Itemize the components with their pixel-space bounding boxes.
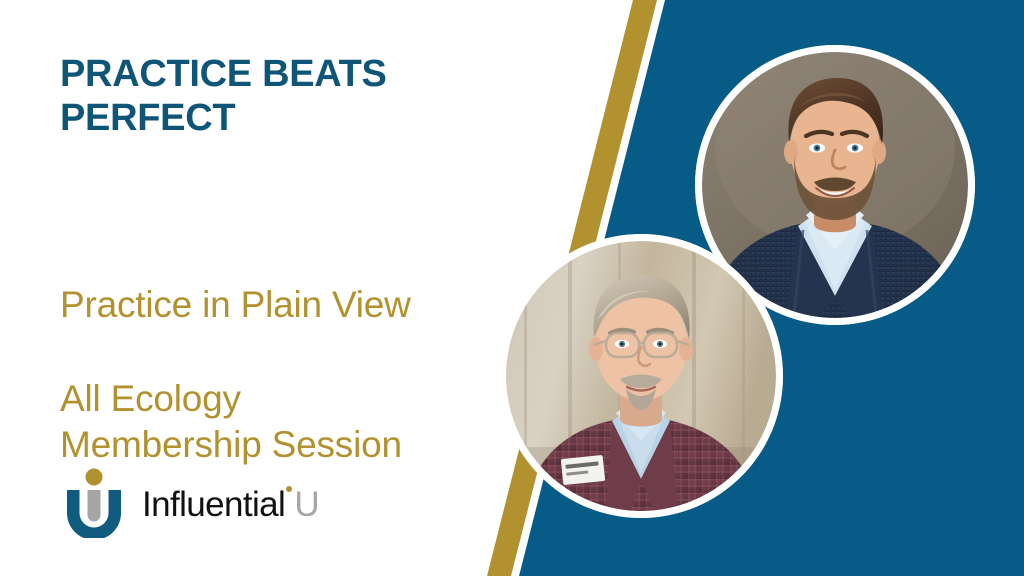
portrait-bottom-photo [506,241,776,511]
session-title-line-1: All Ecology [60,376,490,422]
wordmark-gold-dot-icon [286,486,292,492]
brand-wordmark-main: Influential [142,485,285,524]
portrait-bottom [499,234,783,518]
logo-gray-stem-icon [88,490,101,522]
logo-gold-dot-icon [86,469,103,486]
brand-logo-lockup: Influential U [58,466,319,538]
presentation-slide: PRACTICE BEATS PERFECT Practice in Plain… [0,0,1024,576]
brand-wordmark-u: U [294,485,319,524]
brand-wordmark: Influential U [142,487,319,522]
session-title: All Ecology Membership Session [60,376,490,469]
text-column: PRACTICE BEATS PERFECT Practice in Plain… [60,0,490,576]
session-title-line-2: Membership Session [60,422,490,468]
influential-u-logo-mark [58,466,130,538]
slide-subtitle: Practice in Plain View [60,283,490,327]
page-title: PRACTICE BEATS PERFECT [60,52,460,140]
